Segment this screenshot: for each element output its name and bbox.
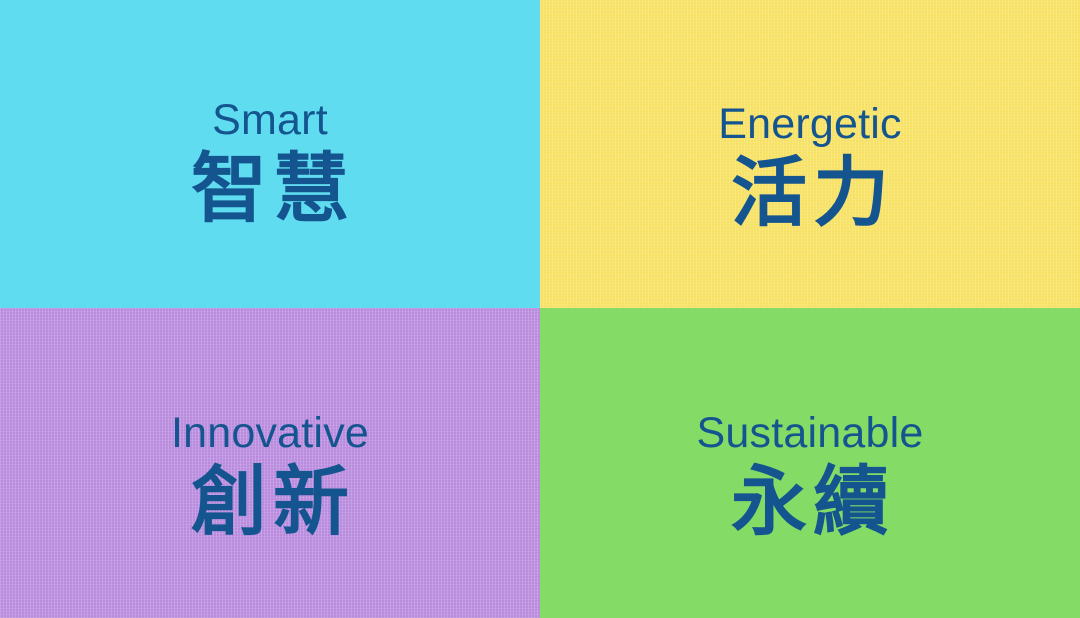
quadrant-sustainable[interactable]: Sustainable 永續 — [540, 308, 1080, 618]
quadrant-innovative-content: Innovative 創新 — [171, 411, 369, 543]
quadrant-smart-content: Smart 智慧 — [185, 98, 355, 230]
quadrant-sustainable-label-en: Sustainable — [697, 411, 924, 456]
quadrant-energetic-content: Energetic 活力 — [718, 102, 901, 234]
quadrant-smart-label-en: Smart — [212, 98, 328, 143]
quadrant-innovative-label-en: Innovative — [171, 411, 369, 456]
quadrant-energetic-label-zh: 活力 — [725, 153, 895, 234]
quadrant-smart[interactable]: Smart 智慧 — [0, 0, 540, 308]
quadrant-smart-label-zh: 智慧 — [185, 149, 355, 230]
quadrant-sustainable-content: Sustainable 永續 — [697, 411, 924, 543]
brand-values-grid: Smart 智慧 Energetic 活力 Innovative 創新 Sust… — [0, 0, 1080, 618]
quadrant-sustainable-label-zh: 永續 — [725, 462, 895, 543]
quadrant-energetic[interactable]: Energetic 活力 — [540, 0, 1080, 308]
quadrant-innovative-label-zh: 創新 — [185, 462, 355, 543]
quadrant-energetic-label-en: Energetic — [718, 102, 901, 147]
quadrant-innovative[interactable]: Innovative 創新 — [0, 308, 540, 618]
